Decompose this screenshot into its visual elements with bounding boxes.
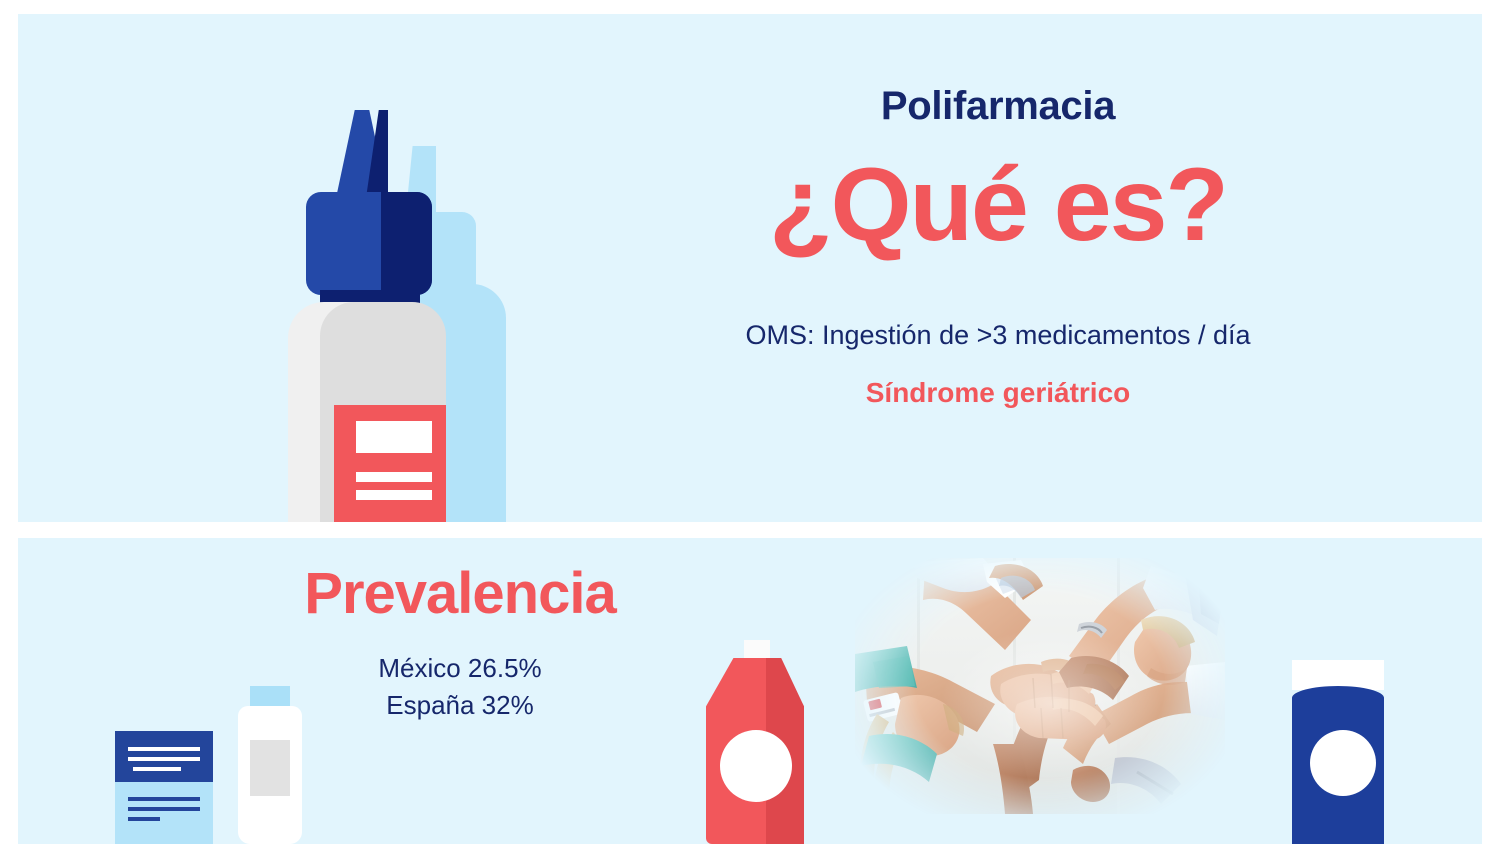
prevalence-text-block: Prevalencia México 26.5% España 32% <box>240 562 680 725</box>
dropper-cap-shade <box>381 192 432 295</box>
syrup-bottle-cap <box>744 640 770 660</box>
headline-question: ¿Qué es? <box>678 146 1318 266</box>
pill-bottle-label <box>250 740 290 796</box>
syrup-bottle-illustration <box>706 640 804 844</box>
medical-team-hands-photo <box>855 558 1225 814</box>
pill-card-line-6 <box>128 817 160 821</box>
dropper-label-bar-1 <box>356 421 432 453</box>
syndrome-label: Síndrome geriátrico <box>678 375 1318 411</box>
top-text-block: Polifarmacia ¿Qué es? OMS: Ingestión de … <box>678 84 1318 411</box>
syrup-bottle-label <box>720 730 792 802</box>
prevalence-stats: México 26.5% España 32% <box>240 650 680 725</box>
pill-card-illustration <box>115 731 213 844</box>
pill-card-line-5 <box>128 807 200 811</box>
prevalence-title: Prevalencia <box>240 562 680 626</box>
dropper-label-bar-3 <box>356 490 432 500</box>
blue-container-illustration <box>1292 660 1384 844</box>
stat-espana: España 32% <box>240 687 680 725</box>
blue-container-label <box>1310 730 1376 796</box>
stat-mexico: México 26.5% <box>240 650 680 688</box>
pill-card-body <box>115 782 213 844</box>
pill-card-line-1 <box>128 747 200 751</box>
top-panel: Polifarmacia ¿Qué es? OMS: Ingestión de … <box>18 14 1482 522</box>
page-title: Polifarmacia <box>678 84 1318 128</box>
pill-card-line-3 <box>133 767 181 771</box>
definition-text: OMS: Ingestión de >3 medicamentos / día <box>678 318 1318 353</box>
pill-card-line-2 <box>128 757 200 761</box>
slide-canvas: Polifarmacia ¿Qué es? OMS: Ingestión de … <box>0 0 1500 844</box>
dropper-bottle-illustration <box>258 84 558 522</box>
pill-card-line-4 <box>128 797 200 801</box>
dropper-label-bar-2 <box>356 472 432 482</box>
